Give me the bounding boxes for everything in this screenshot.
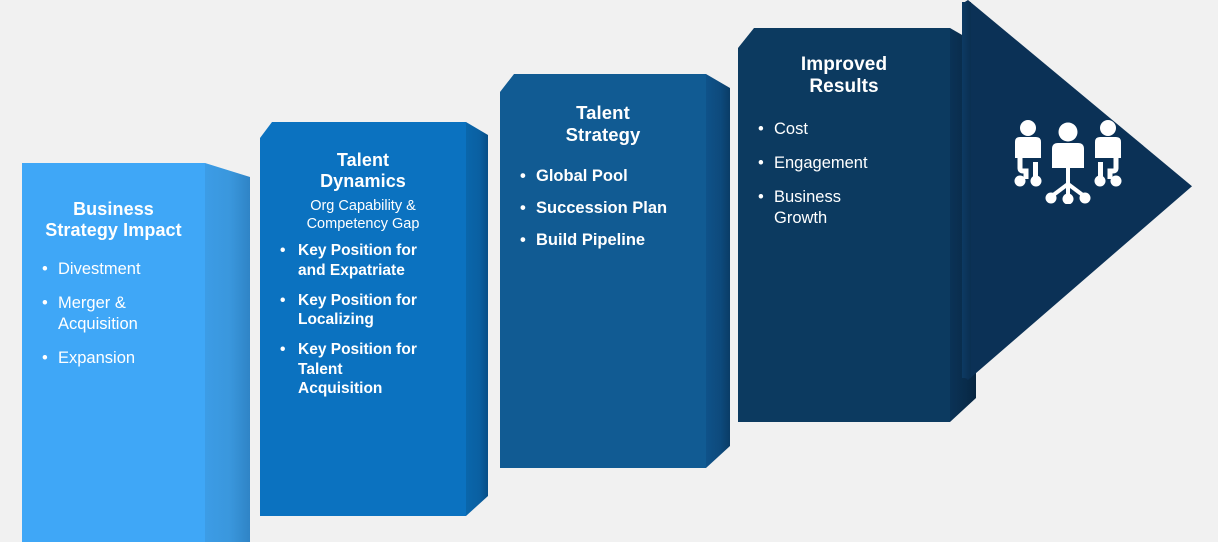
step-side-face-1 bbox=[205, 163, 250, 542]
step-title-line2: Strategy Impact bbox=[38, 220, 189, 241]
process-step-talent-strategy[interactable]: Talent Strategy • Global Pool • Successi… bbox=[500, 74, 730, 468]
bullet-dot-icon: • bbox=[520, 166, 526, 187]
bullet-dot-icon: • bbox=[520, 230, 526, 251]
step-title-line1: Business bbox=[38, 199, 189, 220]
bullet-text: Cost bbox=[774, 120, 808, 138]
process-step-talent-dynamics[interactable]: Talent Dynamics Org Capability & Compete… bbox=[260, 122, 488, 516]
step-subtitle-line2: Competency Gap bbox=[276, 216, 450, 233]
step-corner-bevel-2 bbox=[260, 122, 272, 138]
bullet-dot-icon: • bbox=[42, 348, 48, 369]
step-bullet-list-4: • Cost • Engagement • Business Growth bbox=[754, 119, 934, 229]
list-item: • Engagement bbox=[754, 153, 934, 174]
arrowhead bbox=[962, 0, 1192, 380]
list-item: • Business Growth bbox=[754, 187, 934, 229]
list-item: • Expansion bbox=[38, 348, 189, 369]
step-title-line1: Talent bbox=[276, 150, 450, 171]
step-front-face-4: Improved Results • Cost • Engagement • B… bbox=[738, 28, 950, 422]
step-front-face-1: Business Strategy Impact • Divestment • … bbox=[22, 163, 205, 542]
bullet-text: Engagement bbox=[774, 154, 868, 172]
step-side-face-3 bbox=[706, 74, 730, 468]
bullet-dot-icon: • bbox=[758, 119, 764, 140]
step-bullet-list-3: • Global Pool • Succession Plan • Build … bbox=[516, 166, 690, 251]
step-side-face-2 bbox=[466, 122, 488, 516]
diagram-canvas: Business Strategy Impact • Divestment • … bbox=[0, 0, 1218, 542]
step-title-line2: Strategy bbox=[516, 124, 690, 146]
list-item: • Merger & Acquisition bbox=[38, 293, 189, 335]
step-title-line2: Dynamics bbox=[276, 171, 450, 192]
bullet-text: Key Position for Talent Acquisition bbox=[298, 341, 417, 397]
bullet-dot-icon: • bbox=[42, 259, 48, 280]
list-item: • Divestment bbox=[38, 259, 189, 280]
step-title-line1: Talent bbox=[516, 102, 690, 124]
step-bullet-list-1: • Divestment • Merger & Acquisition • Ex… bbox=[38, 259, 189, 369]
list-item: • Succession Plan bbox=[516, 198, 690, 219]
bullet-dot-icon: • bbox=[280, 340, 285, 360]
bullet-text: Business Growth bbox=[774, 188, 841, 227]
step-title-line1: Improved bbox=[754, 54, 934, 76]
bullet-text: Merger & Acquisition bbox=[58, 294, 138, 333]
step-front-face-3: Talent Strategy • Global Pool • Successi… bbox=[500, 74, 706, 468]
team-people-icon bbox=[1010, 118, 1126, 204]
bullet-text: Expansion bbox=[58, 349, 135, 367]
bullet-text: Global Pool bbox=[536, 167, 628, 185]
step-front-face-2: Talent Dynamics Org Capability & Compete… bbox=[260, 122, 466, 516]
step-corner-bevel-4 bbox=[738, 28, 754, 48]
step-title-4: Improved Results bbox=[754, 54, 934, 99]
step-title-1: Business Strategy Impact bbox=[38, 199, 189, 241]
bullet-text: Key Position for and Expatriate bbox=[298, 242, 417, 279]
bullet-dot-icon: • bbox=[758, 153, 764, 174]
process-step-improved-results[interactable]: Improved Results • Cost • Engagement • B… bbox=[738, 28, 976, 422]
list-item: • Build Pipeline bbox=[516, 230, 690, 251]
bullet-dot-icon: • bbox=[758, 187, 764, 208]
step-subtitle-line1: Org Capability & bbox=[276, 198, 450, 215]
bullet-dot-icon: • bbox=[280, 291, 285, 311]
bullet-dot-icon: • bbox=[520, 198, 526, 219]
bullet-text: Key Position for Localizing bbox=[298, 292, 417, 329]
bullet-text: Succession Plan bbox=[536, 199, 667, 217]
bullet-dot-icon: • bbox=[280, 241, 285, 261]
list-item: • Key Position for Talent Acquisition bbox=[276, 340, 450, 399]
step-subtitle-2: Org Capability & Competency Gap bbox=[276, 198, 450, 233]
list-item: • Key Position for Localizing bbox=[276, 291, 450, 330]
list-item: • Global Pool bbox=[516, 166, 690, 187]
process-step-business-strategy-impact[interactable]: Business Strategy Impact • Divestment • … bbox=[22, 163, 250, 542]
step-corner-bevel-3 bbox=[500, 74, 514, 92]
step-title-line2: Results bbox=[754, 76, 934, 98]
bullet-text: Divestment bbox=[58, 260, 141, 278]
step-title-3: Talent Strategy bbox=[516, 102, 690, 146]
bullet-text: Build Pipeline bbox=[536, 231, 645, 249]
step-bullet-list-2: • Key Position for and Expatriate • Key … bbox=[276, 241, 450, 399]
arrowhead-left-edge bbox=[962, 2, 971, 378]
step-title-2: Talent Dynamics bbox=[276, 150, 450, 192]
list-item: • Cost bbox=[754, 119, 934, 140]
list-item: • Key Position for and Expatriate bbox=[276, 241, 450, 280]
bullet-dot-icon: • bbox=[42, 293, 48, 314]
